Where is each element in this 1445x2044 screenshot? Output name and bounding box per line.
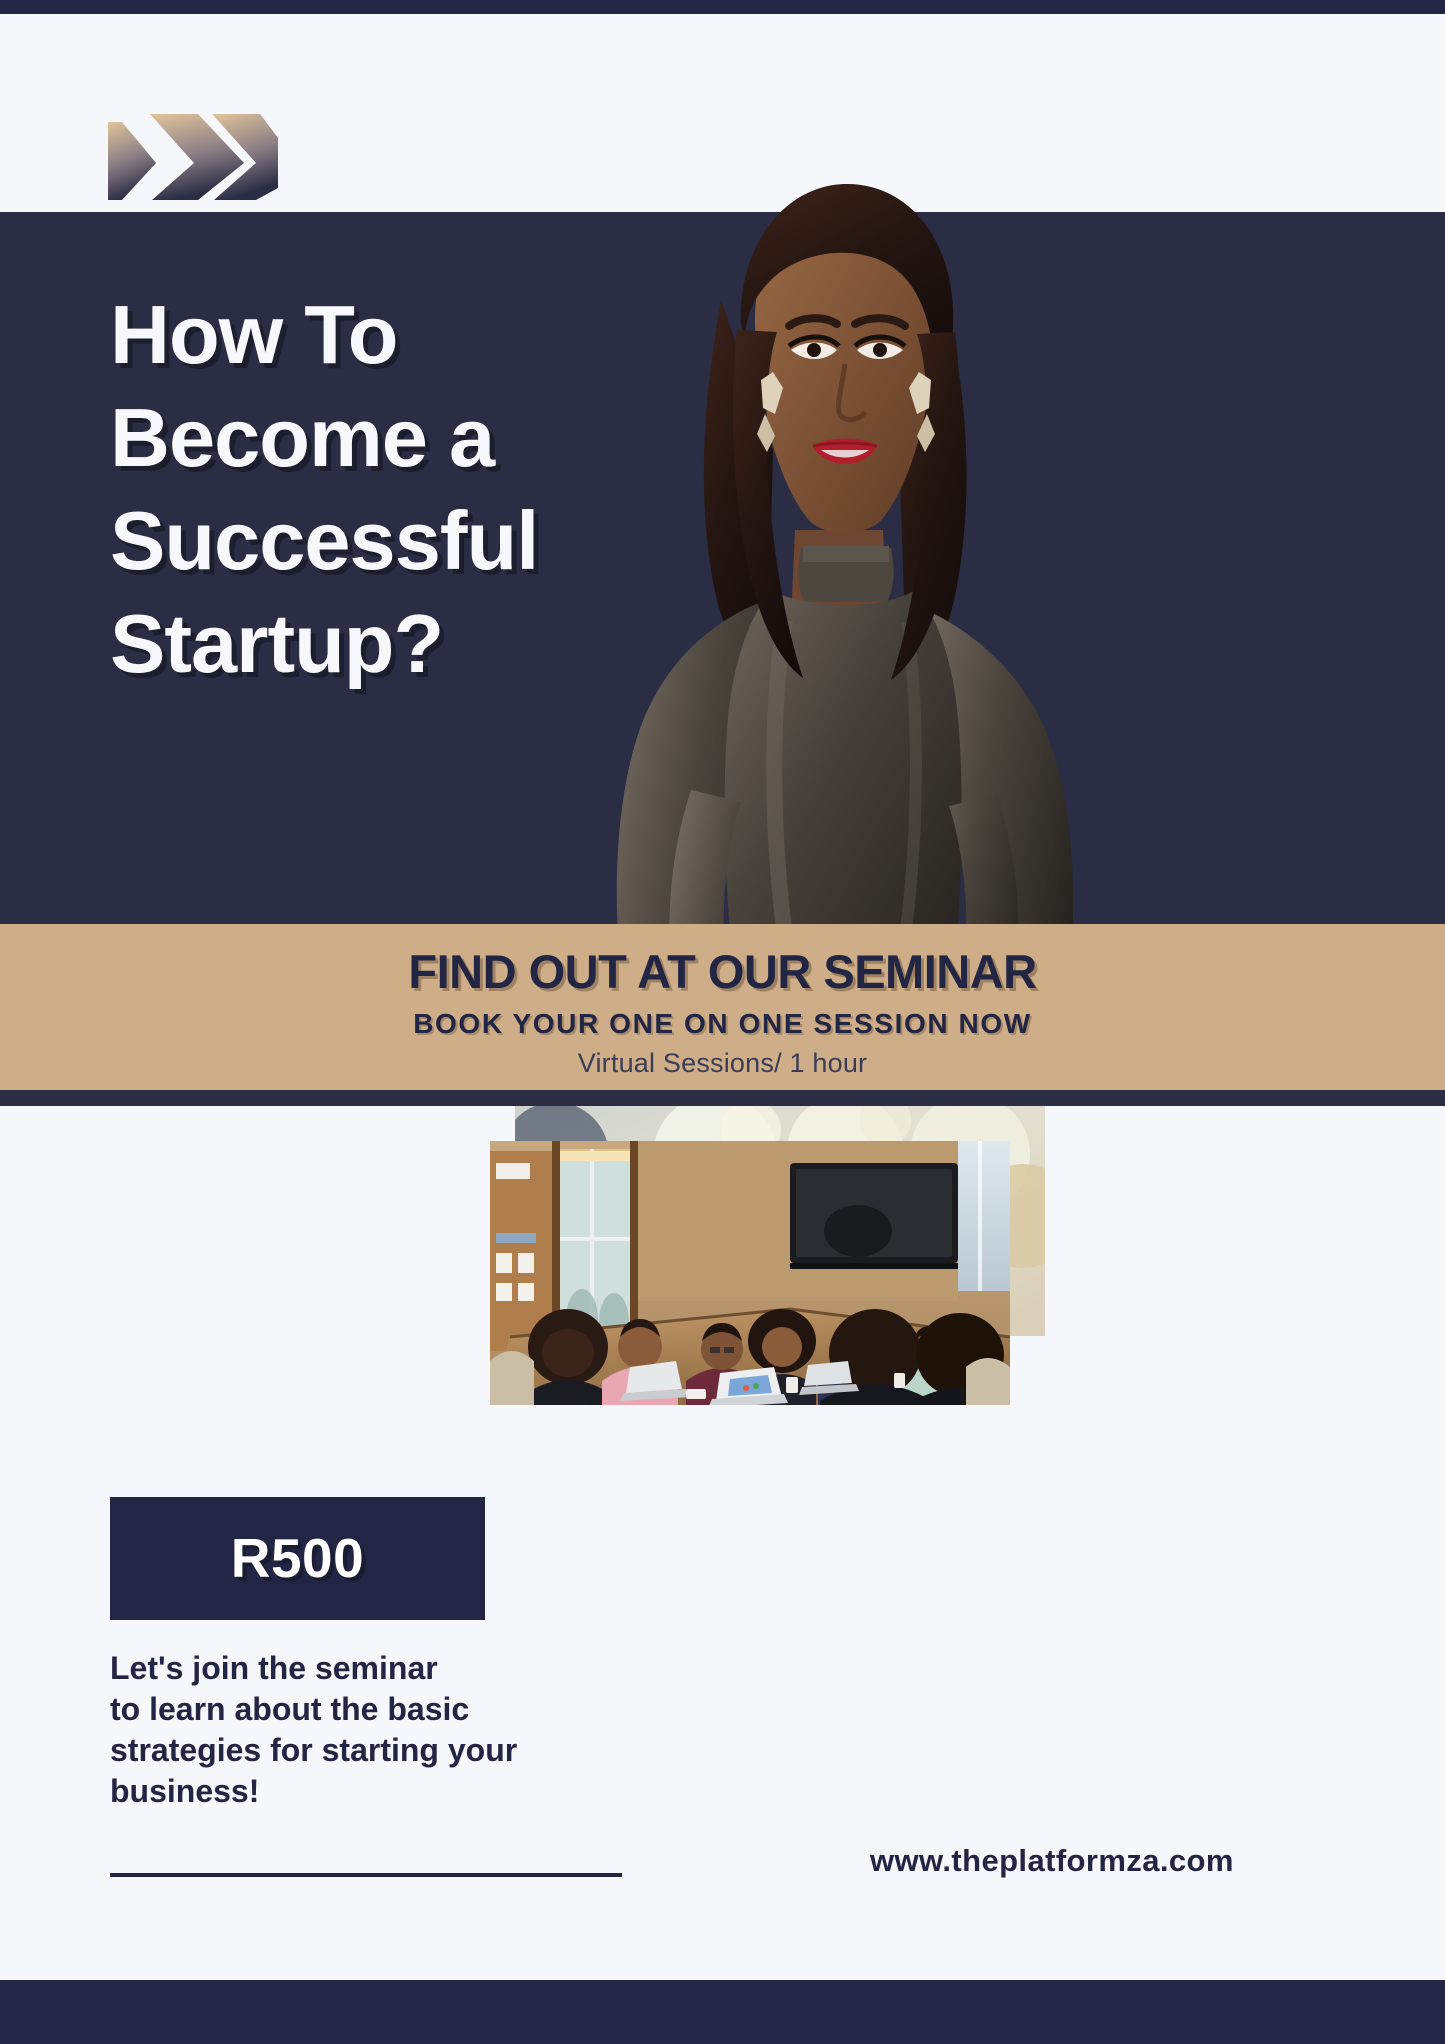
banner-subhead: BOOK YOUR ONE ON ONE SESSION NOW	[0, 1008, 1445, 1040]
blurb-line-1: Let's join the seminar	[110, 1648, 510, 1689]
banner-bottom-rule	[0, 1090, 1445, 1106]
seminar-banner: FIND OUT AT OUR SEMINAR BOOK YOUR ONE ON…	[0, 924, 1445, 1090]
banner-headline: FIND OUT AT OUR SEMINAR	[0, 944, 1445, 999]
website-url[interactable]: www.theplatformza.com	[870, 1843, 1234, 1879]
blurb-line-2: to learn about the basic	[110, 1689, 510, 1730]
headline-line-1: How To	[110, 283, 730, 386]
blurb-line-4: business!	[110, 1771, 510, 1812]
meeting-room-photo	[490, 1141, 1010, 1405]
offer-description: Let's join the seminar to learn about th…	[110, 1648, 510, 1812]
poster-headline: How To Become a Successful Startup?	[110, 283, 730, 695]
headline-line-2: Become a	[110, 386, 730, 489]
top-accent-bar	[0, 0, 1445, 14]
headline-line-3: Successful	[110, 489, 730, 592]
headline-line-4: Startup?	[110, 592, 730, 695]
footer-divider-rule	[110, 1873, 622, 1877]
blurb-line-3: strategies for starting your	[110, 1730, 510, 1771]
banner-detail: Virtual Sessions/ 1 hour	[0, 1048, 1445, 1079]
chevron-logo	[108, 100, 278, 200]
price-value: R500	[110, 1497, 485, 1620]
bottom-accent-bar	[0, 1980, 1445, 2044]
poster-canvas: How To Become a Successful Startup? WITH…	[0, 0, 1445, 2044]
price-badge: R500	[110, 1497, 485, 1620]
